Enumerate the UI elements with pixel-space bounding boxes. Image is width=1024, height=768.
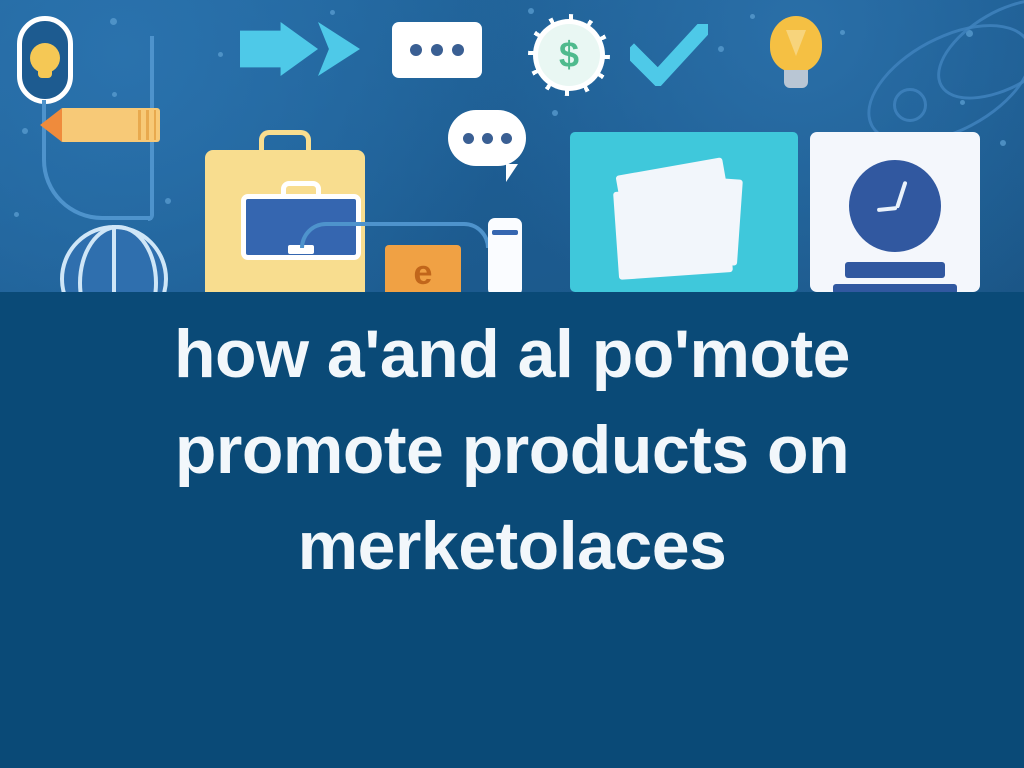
planet-orbit-moon-icon — [893, 88, 927, 122]
lightbulb-card-icon — [17, 16, 73, 104]
dot-decoration — [482, 133, 493, 144]
page-title: how a'and al po'mote promote products on… — [0, 306, 1024, 594]
battery-icon — [488, 218, 522, 292]
page-title-line-2: promote products on — [60, 402, 964, 498]
hero-banner: e $ — [0, 0, 1024, 292]
speck-decoration — [552, 110, 558, 116]
speck-decoration — [750, 14, 755, 19]
suitcase-handle-icon — [259, 130, 311, 154]
clock-panel-bar — [845, 262, 945, 278]
pencil-icon — [60, 108, 160, 142]
speck-decoration — [1000, 140, 1006, 146]
clock-panel-icon — [810, 132, 980, 292]
speck-decoration — [22, 128, 28, 134]
dot-decoration — [431, 44, 443, 56]
title-area: how a'and al po'mote promote products on… — [0, 292, 1024, 768]
speck-decoration — [718, 46, 724, 52]
speck-decoration — [165, 198, 171, 204]
speck-decoration — [218, 52, 223, 57]
dot-decoration — [463, 133, 474, 144]
speck-decoration — [330, 10, 335, 15]
title-card-page: e $ — [0, 0, 1024, 768]
lightbulb-icon — [770, 16, 822, 72]
speck-decoration — [14, 212, 19, 217]
speech-bubble-icon — [448, 110, 526, 166]
speck-decoration — [112, 92, 117, 97]
dollar-badge-icon: $ — [538, 24, 600, 86]
suitcase-icon — [205, 150, 365, 292]
briefcase-handle-icon — [281, 181, 321, 199]
dot-decoration — [501, 133, 512, 144]
message-card-icon — [392, 22, 482, 78]
wire-decoration — [300, 222, 490, 248]
shopping-bag-glyph: e — [414, 256, 433, 290]
dot-decoration — [410, 44, 422, 56]
clock-panel-bar — [833, 284, 957, 292]
speck-decoration — [110, 18, 117, 25]
shopping-bag-icon: e — [385, 245, 461, 292]
speck-decoration — [840, 30, 845, 35]
dot-decoration — [452, 44, 464, 56]
documents-panel-icon — [570, 132, 798, 292]
lightbulb-glyph-icon — [30, 43, 60, 73]
paper-sheet-icon — [613, 184, 733, 280]
dollar-glyph: $ — [559, 37, 579, 73]
checkmark-icon — [630, 24, 708, 86]
speck-decoration — [528, 8, 534, 14]
clock-icon — [849, 160, 941, 252]
page-title-line-3: merketolaces — [60, 498, 964, 594]
page-title-line-1: how a'and al po'mote — [60, 306, 964, 402]
lightbulb-filament-icon — [786, 30, 806, 56]
